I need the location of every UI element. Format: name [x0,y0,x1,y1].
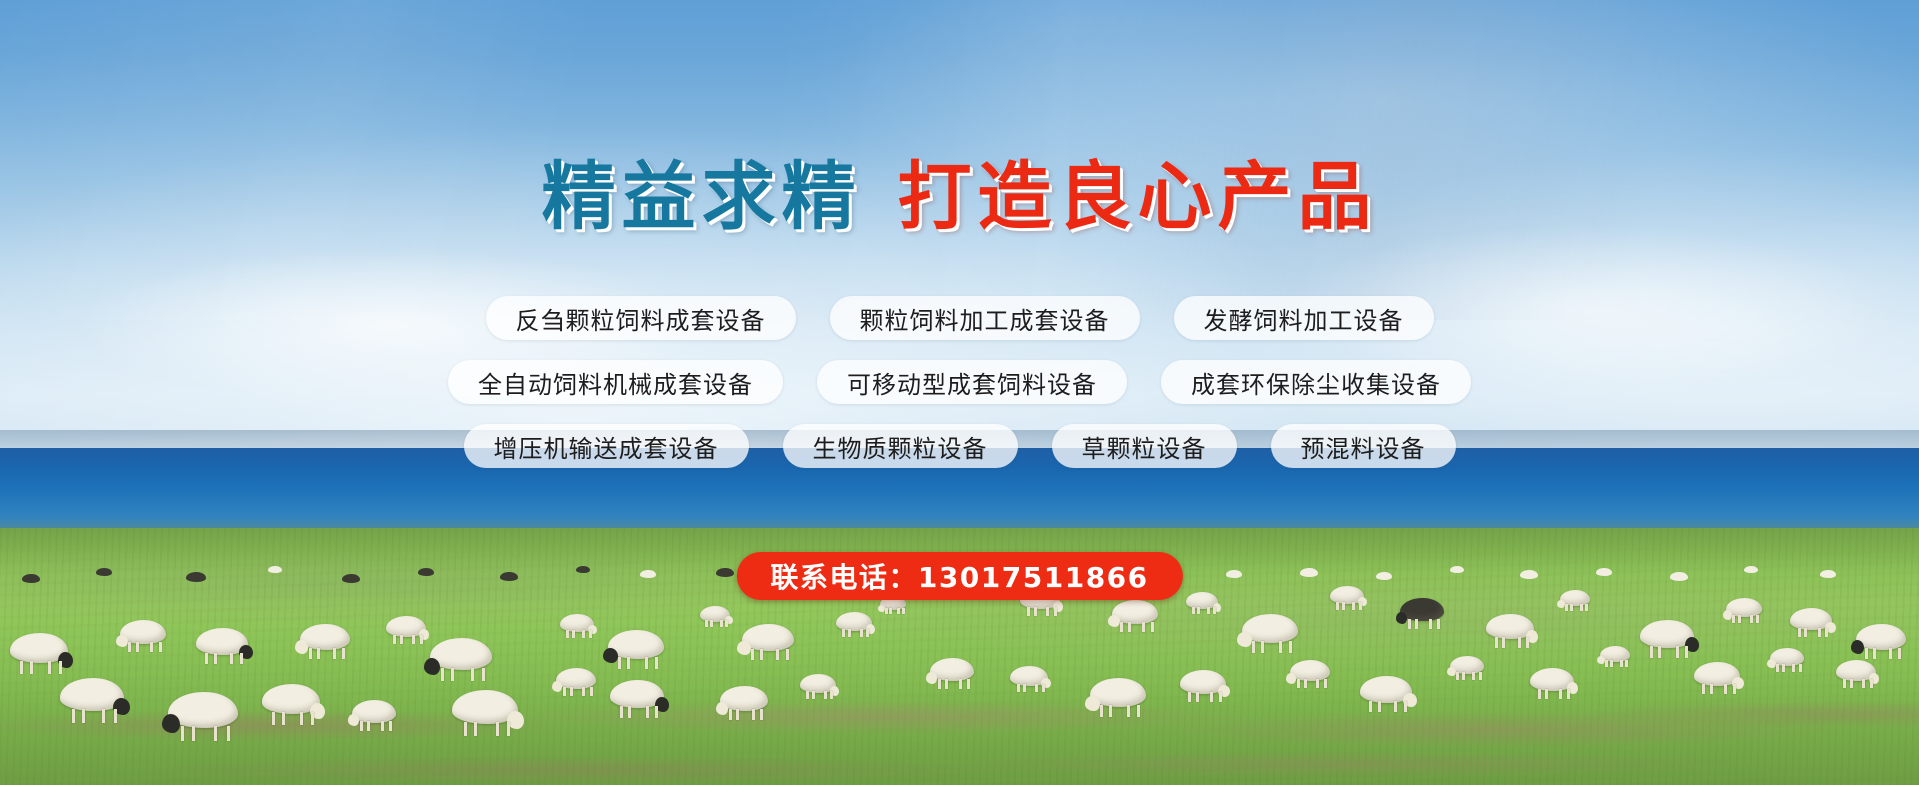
sheep-leg [240,653,243,664]
sheep-leg [786,649,789,660]
sheep [1112,600,1158,635]
sheep-leg [1605,660,1608,667]
sheep [1226,570,1242,582]
sheep-leg [1429,619,1432,629]
sheep-leg [1782,664,1785,672]
sheep-leg [752,709,755,720]
sheep-leg [1437,619,1440,629]
sheep [800,674,836,702]
sheep [168,692,238,744]
sheep-leg [1197,607,1200,614]
dirt-track-lower [0,742,1919,785]
sheep-leg [1336,602,1339,610]
product-category-pill[interactable]: 预混料设备 [1271,424,1456,468]
sheep-head [878,605,885,612]
sheep-leg [902,608,905,614]
sheep [1300,568,1318,581]
sheep-leg [205,653,208,664]
sheep-leg [885,608,888,614]
sheep-body [342,574,360,583]
sheep [1186,592,1218,617]
sheep [22,574,40,587]
sheep-leg [1128,622,1131,632]
sheep-leg [400,635,403,644]
sheep-leg [192,726,195,741]
sheep-leg [381,721,384,731]
sheep [716,568,734,581]
sheep-leg [1495,637,1498,648]
sheep [186,572,206,587]
sheep [1530,668,1574,701]
sheep-leg [1252,641,1255,653]
sheep-leg [309,648,312,659]
sheep-leg [474,722,477,736]
sheep-leg [1151,622,1154,632]
sheep-leg [412,635,415,644]
sheep [1242,614,1298,656]
sheep [576,566,590,576]
sheep [96,568,112,580]
sheep-leg [272,712,275,725]
sheep-head [1085,696,1100,711]
sheep [500,572,518,585]
sheep-leg [1188,692,1191,702]
sheep-leg [590,687,593,696]
sheep-leg [441,668,444,681]
sheep-leg [570,687,573,696]
sheep-leg [1526,637,1529,648]
sheep-leg [824,691,827,699]
sheep-leg [1676,646,1679,658]
sheep [342,574,360,587]
sheep-leg [1585,604,1588,611]
sheep-head [424,658,440,675]
sheep-leg [451,668,454,681]
sheep-body [576,566,590,573]
sheep-body [500,572,518,581]
sheep-body [716,568,734,577]
sheep-leg [563,687,566,696]
contact-phone-badge[interactable]: 联系电话：13017511866 [736,552,1182,600]
sheep-head [348,714,359,726]
sheep-body [1670,572,1688,581]
sheep-leg [1352,602,1355,610]
sheep-leg [1873,648,1876,659]
sheep-leg [1137,705,1140,717]
sheep-leg [1724,684,1727,694]
sheep-body [96,568,112,576]
sheep [418,568,434,580]
sheep-leg [897,608,900,614]
sheep-leg [420,635,423,644]
sheep-leg [1369,701,1372,712]
sheep-body [1596,568,1612,576]
sheep-leg [848,629,851,637]
sheep-leg [102,709,105,723]
sheep-head [1396,612,1407,624]
sheep-leg [589,630,592,638]
sheep-leg [1658,646,1661,658]
sheep-leg [729,709,732,720]
sheep [452,690,518,739]
sheep-leg [1898,648,1901,659]
sheep-leg [760,709,763,720]
sheep-leg [1818,628,1821,637]
sheep-body [1744,566,1758,573]
sheep-leg [1502,637,1505,648]
sheep-leg [1304,679,1307,688]
sheep-head [1447,667,1456,676]
product-category-pill[interactable]: 生物质颗粒设备 [783,424,1018,468]
sheep-leg [1207,607,1210,614]
product-category-pill[interactable]: 发酵饲料加工设备 [1174,296,1434,340]
sheep-leg [159,642,162,652]
sheep-head [295,640,308,654]
sheep-leg [1456,672,1459,680]
sheep-leg [1472,672,1475,680]
sheep-leg [1109,705,1112,717]
sheep-head [1851,640,1864,654]
sheep-leg [317,648,320,659]
sheep-leg [1889,648,1892,659]
sheep-leg [618,657,621,669]
page-title: 精益求精打造良心产品 [0,160,1919,234]
sheep-leg [889,608,892,614]
sheep-leg [1865,648,1868,659]
sheep-head [716,702,728,715]
sheep-leg [1776,664,1779,672]
sheep [430,638,492,684]
sheep-leg [1415,619,1418,629]
sheep-leg [1297,679,1300,688]
sheep-body [1820,570,1836,578]
sheep [1600,646,1630,669]
sheep [1790,608,1832,640]
sheep [1180,670,1226,705]
sheep-leg [1378,701,1381,712]
sheep-leg [646,706,649,718]
sheep-leg [959,679,962,689]
sheep-leg [866,629,869,637]
product-category-pill[interactable]: 草颗粒设备 [1052,424,1237,468]
sheep-leg [214,726,217,741]
sheep-leg [751,649,754,660]
sheep-leg [1034,607,1037,616]
sheep-leg [128,642,131,652]
sheep-leg [1733,684,1736,694]
sheep-leg [1518,637,1521,648]
sheep-leg [1732,615,1735,623]
sheep-leg [720,620,723,627]
sheep-leg [1023,684,1026,692]
sheep-leg [507,722,510,736]
sheep-leg [627,657,630,669]
sheep-leg [72,709,75,723]
product-category-list: 反刍颗粒饲料成套设备颗粒饲料加工成套设备发酵饲料加工设备全自动饲料机械成套设备可… [0,296,1919,488]
sheep-leg [82,709,85,723]
product-category-row: 反刍颗粒饲料成套设备颗粒饲料加工成套设备发酵饲料加工设备 [0,296,1919,340]
sheep-leg [1870,679,1873,688]
sheep-leg [842,629,845,637]
sheep-head [1723,610,1732,620]
sheep-body [418,568,434,576]
sheep-leg [389,721,392,731]
sheep-leg [1620,660,1623,667]
sheep [930,658,974,691]
sheep [1330,586,1364,612]
sheep-leg [311,712,314,725]
sheep-leg [136,642,139,652]
sheep-leg [342,648,345,659]
sheep [560,614,594,640]
product-category-pill[interactable]: 反刍颗粒饲料成套设备 [486,296,796,340]
sheep-leg [582,687,585,696]
sheep-leg [1213,607,1216,614]
sheep-leg [1210,692,1213,702]
sheep-leg [705,620,708,627]
sheep-leg [1804,628,1807,637]
sheep-leg [1756,615,1759,623]
product-category-pill[interactable]: 颗粒饲料加工成套设备 [830,296,1140,340]
sheep-leg [482,668,485,681]
product-category-pill[interactable]: 全自动饲料机械成套设备 [448,360,783,404]
sheep-leg [938,679,941,689]
sheep-leg [1825,628,1828,637]
sheep-head [162,714,180,733]
sheep-leg [1862,679,1865,688]
sheep-leg [1567,689,1570,699]
sheep-head [1286,673,1296,684]
sheep [1450,656,1484,682]
sheep-leg [1359,602,1362,610]
sheep-leg [1685,646,1688,658]
sheep [1596,568,1612,580]
sheep-leg [628,706,631,718]
sheep [720,686,768,722]
product-category-pill[interactable]: 增压机输送成套设备 [464,424,749,468]
sheep-leg [464,722,467,736]
sheep [300,624,350,662]
sheep-leg [566,630,569,638]
sheep-head [737,641,751,655]
sheep-body [1226,570,1242,578]
sheep-leg [1850,679,1853,688]
sheep-leg [1142,622,1145,632]
sheep-leg [806,691,809,699]
sheep-body [1290,660,1330,681]
sheep-leg [367,721,370,731]
sheep-leg [645,657,648,669]
sheep-leg [1559,689,1562,699]
sheep [1010,666,1048,695]
sheep [1450,566,1464,576]
sheep-body [1376,572,1392,580]
sheep-leg [1479,672,1482,680]
sheep-leg [1650,646,1653,658]
sheep [836,612,872,640]
sheep-body [1520,570,1538,579]
sheep-leg [582,630,585,638]
sheep-head [552,681,562,692]
sheep-leg [1792,664,1795,672]
sheep [1820,570,1836,582]
sheep-leg [1798,628,1801,637]
sheep-leg [1610,660,1613,667]
sheep-leg [812,691,815,699]
sheep [262,684,320,728]
sheep-leg [1394,701,1397,712]
sheep-head [926,672,937,684]
sheep-leg [181,726,184,741]
sheep-leg [736,709,739,720]
sheep-leg [760,649,763,660]
sheep-leg [1279,641,1282,653]
sheep [556,668,596,698]
sheep [1856,624,1906,662]
sheep-leg [227,726,230,741]
headline-primary: 精益求精 [542,154,862,240]
sheep-leg [1538,689,1541,699]
sheep-leg [20,661,23,674]
sheep [640,570,656,582]
sheep-leg [776,649,779,660]
sheep-leg [1710,684,1713,694]
sheep-leg [1027,607,1030,616]
sheep-head [603,648,618,663]
sheep-leg [1100,705,1103,717]
sheep [608,630,664,672]
sheep [1360,676,1412,715]
sheep-leg [1035,684,1038,692]
sheep-leg [1843,679,1846,688]
sheep-leg [1625,660,1628,667]
sheep-leg [1196,692,1199,702]
sheep-leg [1054,607,1057,616]
product-category-row: 增压机输送成套设备生物质颗粒设备草颗粒设备预混料设备 [0,424,1919,468]
sheep-leg [1324,679,1327,688]
sheep-leg [393,635,396,644]
sheep-leg [655,706,658,718]
promo-banner: 精益求精打造良心产品 反刍颗粒饲料成套设备颗粒饲料加工成套设备发酵饲料加工设备全… [0,0,1919,785]
sheep [1694,662,1740,697]
sheep [1640,620,1694,661]
sheep-leg [860,629,863,637]
sheep-body [186,572,206,582]
sheep-leg [1570,604,1573,611]
headline-secondary: 打造良心产品 [898,154,1378,240]
sheep [352,700,396,733]
sheep-leg [30,661,33,674]
sheep-leg [1120,622,1123,632]
sheep-leg [1799,664,1802,672]
sheep [1486,614,1534,650]
sheep-leg [1738,615,1741,623]
sheep-leg [230,653,233,664]
sheep [196,628,248,667]
sheep-leg [1192,607,1195,614]
sheep-leg [1127,705,1130,717]
sheep-head [1557,600,1565,608]
sheep-leg [300,712,303,725]
sheep [700,606,730,629]
sheep-leg [1046,607,1049,616]
sheep-leg [1750,615,1753,623]
sheep-head [1767,659,1776,668]
sheep-leg [114,709,117,723]
sheep-head [1108,615,1120,627]
sheep [120,620,166,655]
sheep [1726,598,1762,626]
sheep-leg [725,620,728,627]
sheep [1836,660,1876,690]
sheep-leg [710,620,713,627]
sheep-leg [1580,604,1583,611]
sheep [268,566,282,576]
sheep [1670,572,1688,585]
sheep-leg [360,721,363,731]
sheep-leg [471,668,474,681]
sheep-leg [830,691,833,699]
sheep [1770,648,1804,674]
sheep-leg [1545,689,1548,699]
sheep-head [1597,656,1605,664]
product-category-row: 全自动饲料机械成套设备可移动型成套饲料设备成套环保除尘收集设备 [0,360,1919,404]
sheep-leg [1702,684,1705,694]
product-category-pill[interactable]: 可移动型成套饲料设备 [817,360,1127,404]
sheep-leg [333,648,336,659]
sheep-body [640,570,656,578]
sheep [1376,572,1392,584]
sheep-body [268,566,282,573]
sheep-leg [655,657,658,669]
sheep-head [116,635,128,647]
sheep [1520,570,1538,583]
sheep-body [22,574,40,583]
sheep-leg [214,653,217,664]
sheep-leg [496,722,499,736]
sheep-leg [1316,679,1319,688]
sheep-leg [1462,672,1465,680]
sheep-leg [1342,602,1345,610]
sheep [742,624,794,663]
sheep [386,616,426,646]
sheep-leg [59,661,62,674]
sheep-leg [48,661,51,674]
sheep-leg [967,679,970,689]
sheep-leg [1261,641,1264,653]
sheep [1290,660,1330,690]
sheep-head [1237,632,1252,647]
sheep-leg [1219,692,1222,702]
sheep-body [1300,568,1318,577]
sheep-body [1450,566,1464,573]
sheep-leg [945,679,948,689]
sheep-leg [1404,701,1407,712]
sheep [1560,590,1590,613]
sheep-leg [572,630,575,638]
sheep-leg [1565,604,1568,611]
sheep-leg [1042,684,1045,692]
sheep-body [556,668,596,689]
sheep [610,680,664,721]
sheep [1744,566,1758,576]
product-category-pill[interactable]: 成套环保除尘收集设备 [1161,360,1471,404]
sheep [10,633,68,677]
sheep [60,678,124,726]
sheep-leg [1408,619,1411,629]
sheep-leg [150,642,153,652]
sheep [1400,598,1444,631]
